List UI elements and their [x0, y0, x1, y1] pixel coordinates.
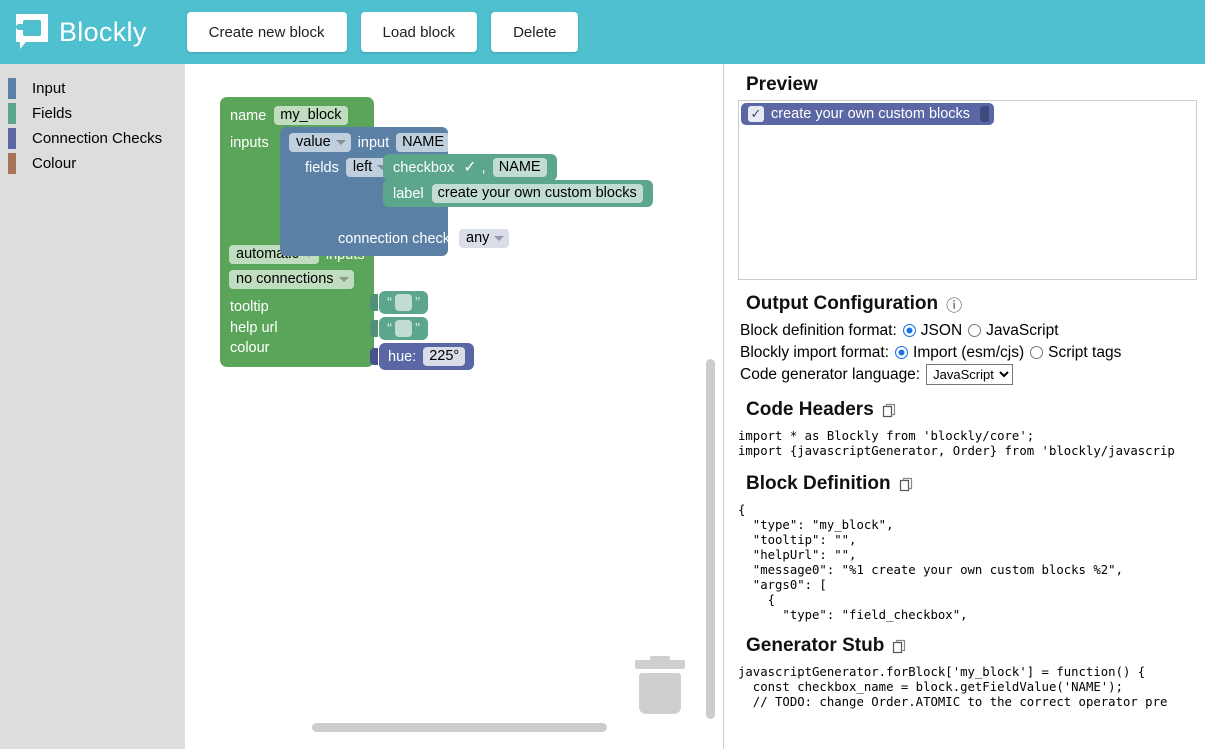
app-body: Input Fields Connection Checks Colour [0, 64, 1205, 749]
generator-stub-code[interactable]: javascriptGenerator.forBlock['my_block']… [738, 665, 1205, 710]
radio-javascript-label: JavaScript [986, 320, 1058, 341]
output-panel: Preview ✓ create your own custom blocks … [725, 64, 1205, 749]
generator-stub-heading: Generator Stub [746, 635, 1205, 657]
hue-value-field[interactable]: 225° [423, 347, 465, 366]
radio-option-javascript[interactable]: JavaScript [968, 320, 1058, 341]
block-name-field[interactable]: my_block [274, 106, 347, 125]
block-definition-code[interactable]: { "type": "my_block", "tooltip": "", "he… [738, 503, 1205, 623]
sidebar-item-label: Fields [32, 105, 72, 122]
sidebar-item-colour[interactable]: Colour [0, 151, 185, 176]
fields-align-value: left [353, 159, 372, 175]
category-color-swatch [8, 153, 16, 174]
helpurl-text-field[interactable] [395, 320, 412, 337]
input-word-label: input [358, 135, 389, 151]
preview-block-label: create your own custom blocks [771, 106, 970, 122]
import-format-label: Blockly import format: [740, 342, 889, 363]
trash-can-icon[interactable] [635, 660, 685, 714]
radio-json[interactable] [903, 324, 916, 337]
chevron-down-icon [339, 277, 349, 282]
copy-icon[interactable] [892, 639, 907, 654]
brand-name: Blockly [59, 17, 147, 48]
radio-option-import-esm[interactable]: Import (esm/cjs) [895, 342, 1024, 363]
helpurl-value-block[interactable]: “ ” [370, 317, 428, 340]
sidebar-item-input[interactable]: Input [0, 76, 185, 101]
name-label: name [230, 108, 266, 124]
connection-check-row[interactable]: connection check any [280, 229, 448, 248]
code-headers-section: Code Headers import * as Blockly from 'b… [738, 399, 1205, 459]
checkbox-comma: , [482, 160, 486, 176]
connection-check-label: connection check [338, 231, 450, 247]
radio-option-script-tags[interactable]: Script tags [1030, 342, 1121, 363]
colour-input-tab [370, 348, 378, 365]
load-block-button[interactable]: Load block [361, 12, 478, 52]
tooltip-text-field[interactable] [395, 294, 412, 311]
connection-check-value: any [466, 230, 489, 246]
block-def-format-label: Block definition format: [740, 320, 897, 341]
colour-hue-block[interactable]: hue: 225° [379, 343, 474, 370]
sidebar-item-label: Connection Checks [32, 130, 162, 147]
category-color-swatch [8, 128, 16, 149]
input-type-value: value [296, 134, 331, 150]
radio-script-tags-label: Script tags [1048, 342, 1121, 363]
block-editor-panel: Input Fields Connection Checks Colour [0, 64, 724, 749]
code-headers-code[interactable]: import * as Blockly from 'blockly/core';… [738, 429, 1205, 459]
preview-output-connector [980, 106, 989, 122]
preview-workspace[interactable]: ✓ create your own custom blocks [738, 100, 1197, 280]
field-label-block[interactable]: label create your own custom blocks [383, 180, 653, 207]
code-headers-title: Code Headers [746, 399, 874, 421]
helpurl-label: help url [230, 320, 278, 336]
input-type-dropdown[interactable]: value [289, 133, 351, 152]
block-definition-heading: Block Definition [746, 473, 1205, 495]
close-quote-icon: ” [415, 295, 420, 310]
label-row[interactable]: label create your own custom blocks [393, 184, 643, 203]
colour-value-block[interactable]: hue: 225° [370, 343, 474, 370]
code-headers-heading: Code Headers [746, 399, 1205, 421]
block-row-helpurl: help url [220, 315, 374, 341]
connections-value: no connections [236, 271, 334, 287]
tooltip-string-block[interactable]: “ ” [379, 291, 428, 314]
open-quote-icon: “ [387, 321, 392, 336]
label-text-field[interactable]: create your own custom blocks [432, 184, 643, 203]
category-color-swatch [8, 103, 16, 124]
block-row-tooltip: tooltip [220, 289, 374, 315]
checkbox-row[interactable]: checkbox ✓ , NAME [393, 158, 547, 177]
sidebar-item-fields[interactable]: Fields [0, 101, 185, 126]
radio-json-label: JSON [921, 320, 962, 341]
chevron-down-icon [336, 140, 346, 145]
codegen-language-label: Code generator language: [740, 364, 920, 385]
connections-dropdown[interactable]: no connections [229, 270, 354, 289]
input-type-row[interactable]: value input NAME [280, 133, 448, 152]
block-definition-title: Block Definition [746, 473, 891, 495]
block-row-colour: colour [220, 341, 374, 367]
trash-body [639, 673, 681, 714]
block-factory-root-block[interactable]: name my_block inputs automatic [220, 97, 374, 367]
copy-icon[interactable] [899, 477, 914, 492]
inputs-label: inputs [230, 135, 269, 151]
preview-title: Preview [746, 74, 818, 96]
block-definition-format-row: Block definition format: JSON JavaScript [740, 320, 1205, 341]
connection-check-dropdown[interactable]: any [459, 229, 509, 248]
workspace-vertical-scrollbar[interactable] [706, 359, 715, 719]
tooltip-label: tooltip [230, 299, 269, 315]
helpurl-input-tab [370, 320, 378, 337]
field-checkbox-block[interactable]: checkbox ✓ , NAME [383, 154, 557, 181]
checkbox-label: checkbox [393, 160, 454, 176]
copy-icon[interactable] [882, 403, 897, 418]
blockly-workspace[interactable]: name my_block inputs automatic [185, 64, 723, 749]
sidebar-item-label: Input [32, 80, 65, 97]
colour-label: colour [230, 340, 270, 356]
label-label: label [393, 186, 424, 202]
tooltip-input-tab [370, 294, 378, 311]
block-definition-section: Block Definition { "type": "my_block", "… [738, 473, 1205, 623]
fields-label: fields [305, 160, 339, 176]
block-row-connections[interactable]: no connections [220, 264, 374, 289]
preview-checkbox-field[interactable]: ✓ [748, 106, 764, 122]
brand-logo: Blockly [14, 12, 147, 52]
preview-block[interactable]: ✓ create your own custom blocks [741, 103, 994, 125]
delete-button[interactable]: Delete [491, 12, 578, 52]
category-color-swatch [8, 78, 16, 99]
blockly-import-format-row: Blockly import format: Import (esm/cjs) … [740, 342, 1205, 363]
sidebar-item-connection-checks[interactable]: Connection Checks [0, 126, 185, 151]
toolbox: Input Fields Connection Checks Colour [0, 64, 185, 749]
checkbox-field[interactable]: ✓ [461, 160, 478, 176]
app-header: Blockly Create new block Load block Dele… [0, 0, 1205, 64]
generator-stub-section: Generator Stub javascriptGenerator.forBl… [738, 635, 1205, 710]
radio-javascript[interactable] [968, 324, 981, 337]
hue-label: hue: [388, 349, 416, 365]
open-quote-icon: “ [387, 295, 392, 310]
codegen-language-select[interactable]: JavaScript [926, 364, 1013, 385]
close-quote-icon: ” [415, 321, 420, 336]
radio-script-tags[interactable] [1030, 346, 1043, 359]
blockly-logo-icon [14, 12, 50, 52]
generator-stub-title: Generator Stub [746, 635, 884, 657]
sidebar-item-label: Colour [32, 155, 76, 172]
workspace-horizontal-scrollbar[interactable] [312, 723, 607, 732]
preview-heading: Preview [746, 74, 1205, 96]
output-configuration-section: Output Configuration ⓘ Block definition … [738, 292, 1205, 385]
tooltip-value-block[interactable]: “ ” [370, 291, 428, 314]
radio-import-esm[interactable] [895, 346, 908, 359]
helpurl-string-block[interactable]: “ ” [379, 317, 428, 340]
radio-option-json[interactable]: JSON [903, 320, 962, 341]
radio-import-esm-label: Import (esm/cjs) [913, 342, 1024, 363]
help-circle-icon[interactable]: ⓘ [946, 292, 962, 316]
create-new-block-button[interactable]: Create new block [187, 12, 347, 52]
input-name-field[interactable]: NAME [396, 133, 450, 152]
output-config-title: Output Configuration [746, 293, 938, 315]
code-generator-language-row: Code generator language: JavaScript [740, 364, 1205, 385]
trash-lid [635, 660, 685, 669]
chevron-down-icon [494, 236, 504, 241]
checkbox-name-field[interactable]: NAME [493, 158, 547, 177]
output-config-heading: Output Configuration ⓘ [746, 292, 1205, 316]
